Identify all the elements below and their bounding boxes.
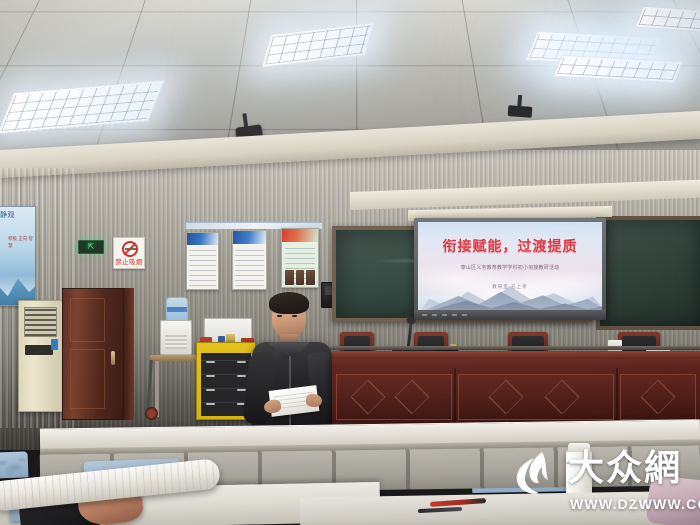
water-cooler-bottle bbox=[166, 297, 188, 322]
screen-control-bar[interactable] bbox=[414, 310, 606, 320]
art-poster-sub: 积极 正向 智慧 bbox=[8, 235, 35, 249]
wall-notice-poster bbox=[232, 230, 267, 290]
room-door[interactable] bbox=[62, 288, 124, 420]
slide-subtitle: 泰山区义务教育教学学科初小衔接教研活动 bbox=[418, 264, 602, 271]
podium-rail bbox=[330, 346, 700, 350]
ceiling-projector-secondary bbox=[508, 105, 533, 118]
chalkboard-right bbox=[596, 216, 700, 330]
door-handle[interactable] bbox=[111, 351, 115, 365]
podium-panel bbox=[620, 374, 696, 420]
foreground-cloth bbox=[646, 475, 700, 525]
wall-notice-poster bbox=[186, 232, 219, 290]
auditorium-seat bbox=[0, 451, 28, 478]
wall-art-poster: 静观 积极 正向 智慧 bbox=[0, 206, 36, 306]
exit-arrow-icon: ⇱ bbox=[88, 243, 95, 251]
wall-notice-poster bbox=[281, 228, 319, 288]
poster-photo-row bbox=[285, 270, 315, 285]
no-smoking-label: 禁止吸烟 bbox=[114, 256, 144, 266]
projection-screen: 衔接赋能，过渡提质 泰山区义务教育教学学科初小衔接教研活动 教研室 孔上祈 bbox=[414, 218, 606, 318]
emergency-exit-sign: ⇱ bbox=[78, 240, 104, 254]
no-smoking-sign: 禁止吸烟 bbox=[113, 237, 145, 269]
podium-rostrum bbox=[332, 355, 700, 423]
water-dispenser bbox=[160, 320, 192, 355]
air-conditioner-unit bbox=[18, 300, 63, 412]
art-poster-heading: 静观 bbox=[0, 211, 15, 220]
ac-brand-badge bbox=[51, 339, 58, 350]
podium-panel bbox=[458, 374, 614, 420]
ac-louvers bbox=[24, 307, 57, 337]
podium-desktop bbox=[332, 351, 700, 359]
presenter-eye bbox=[277, 315, 282, 317]
slide-title: 衔接赋能，过渡提质 bbox=[418, 236, 602, 256]
door-frame-edge bbox=[124, 288, 134, 420]
presenter-hair bbox=[269, 292, 309, 314]
screen-surface: 衔接赋能，过渡提质 泰山区义务教育教学学科初小衔接教研活动 教研室 孔上祈 bbox=[418, 222, 602, 314]
presenter-eye bbox=[292, 315, 297, 317]
screen-control-buttons[interactable] bbox=[422, 314, 472, 316]
ac-display-panel bbox=[25, 345, 53, 355]
podium-panel bbox=[336, 374, 452, 420]
hand-truck bbox=[145, 360, 161, 420]
classroom-photo-scene: 静观 积极 正向 智慧 ⇱ 禁止吸烟 bbox=[0, 0, 700, 525]
slide-byline: 教研室 孔上祈 bbox=[418, 284, 602, 290]
